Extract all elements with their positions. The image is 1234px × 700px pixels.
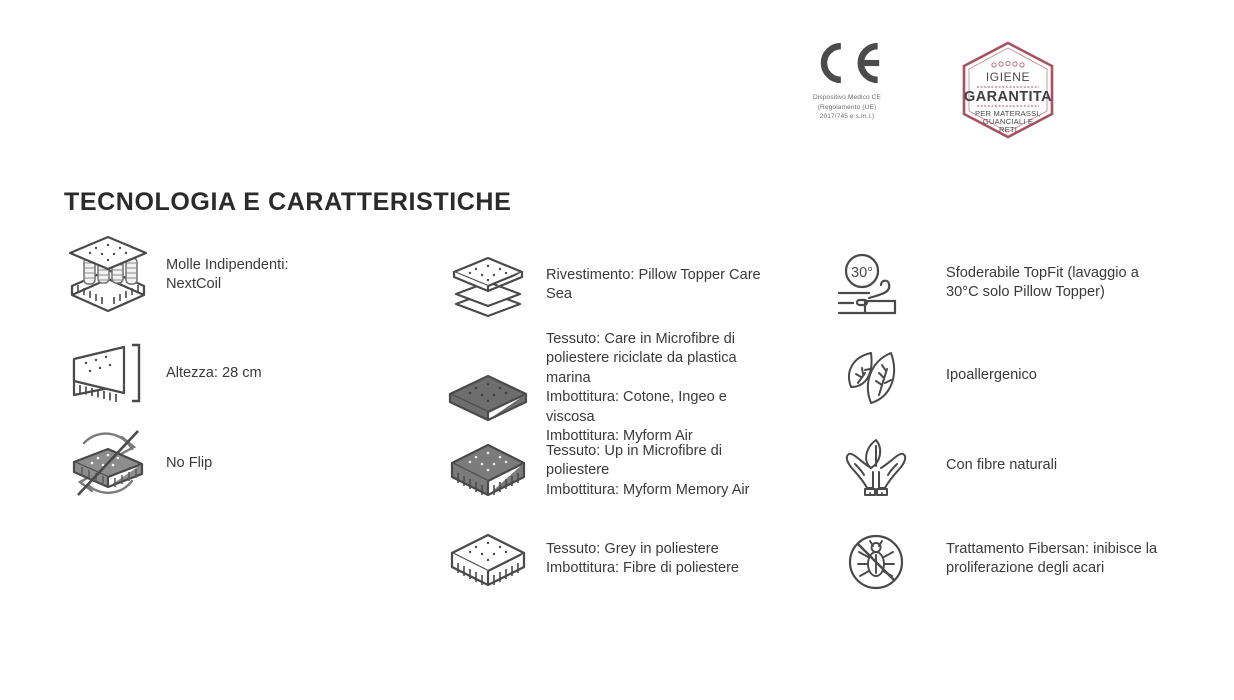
ce-certification: Dispositivo Medico CE (Regolamento (UE) … <box>806 40 888 122</box>
mattress-slab-icon <box>440 330 536 432</box>
hygiene-line2: GARANTITA <box>964 89 1052 105</box>
feature-item: Ipoallergenico <box>828 342 1037 414</box>
leaves-icon <box>828 342 924 414</box>
page-title: TECNOLOGIA E CARATTERISTICHE <box>64 188 511 217</box>
washable-30-degrees-icon: 30° <box>828 250 924 322</box>
ce-mark-icon <box>807 40 887 86</box>
feature-item: 30° Sfoderabile TopFit (lavaggio a 30°C … <box>828 250 1139 322</box>
feature-item: No Flip <box>60 428 212 500</box>
anti-mite-icon <box>828 526 924 598</box>
feature-label: No Flip <box>166 428 212 473</box>
feature-label: Trattamento Fibersan: inibisce la prolif… <box>946 526 1157 579</box>
no-flip-icon <box>60 428 156 500</box>
feature-label: Con fibre naturali <box>946 432 1057 475</box>
feature-item: Rivestimento: Pillow Topper Care Sea <box>440 250 761 322</box>
feature-label: Tessuto: Up in Microfibre di poliestere … <box>546 436 750 500</box>
feature-item: Molle Indipendenti: NextCoil <box>60 238 289 310</box>
hygiene-badge: IGIENE GARANTITA PER MATERASSI, GUANCIAL… <box>960 40 1056 140</box>
mattress-height-icon <box>60 338 156 410</box>
mattress-outline-icon <box>440 526 536 598</box>
feature-item: Trattamento Fibersan: inibisce la prolif… <box>828 526 1157 598</box>
hygiene-line1: IGIENE <box>986 70 1030 84</box>
hands-leaf-icon <box>828 432 924 504</box>
igiene-garantita-icon: IGIENE GARANTITA PER MATERASSI, GUANCIAL… <box>960 40 1056 140</box>
feature-item: Tessuto: Care in Microfibre di poliester… <box>440 330 737 446</box>
hygiene-line5: RETI <box>999 125 1017 134</box>
feature-label: Molle Indipendenti: NextCoil <box>166 238 289 295</box>
feature-item: Tessuto: Grey in poliestere Imbottitura:… <box>440 526 739 598</box>
ce-caption: Dispositivo Medico CE (Regolamento (UE) … <box>806 93 888 122</box>
feature-label: Tessuto: Care in Microfibre di poliester… <box>546 330 737 446</box>
feature-item: Con fibre naturali <box>828 432 1057 504</box>
feature-label: Altezza: 28 cm <box>166 338 262 383</box>
feature-item: Tessuto: Up in Microfibre di poliestere … <box>440 436 750 508</box>
feature-item: Altezza: 28 cm <box>60 338 262 410</box>
mattress-block-icon <box>440 436 536 508</box>
feature-label: Tessuto: Grey in poliestere Imbottitura:… <box>546 526 739 579</box>
certification-row: Dispositivo Medico CE (Regolamento (UE) … <box>806 40 1056 155</box>
pillow-topper-layers-icon <box>440 250 536 322</box>
washing-temperature-label: 30° <box>851 265 873 281</box>
feature-label: Ipoallergenico <box>946 342 1037 385</box>
feature-label: Rivestimento: Pillow Topper Care Sea <box>546 250 761 305</box>
feature-label: Sfoderabile TopFit (lavaggio a 30°C solo… <box>946 250 1139 303</box>
pocket-springs-icon <box>60 238 156 310</box>
